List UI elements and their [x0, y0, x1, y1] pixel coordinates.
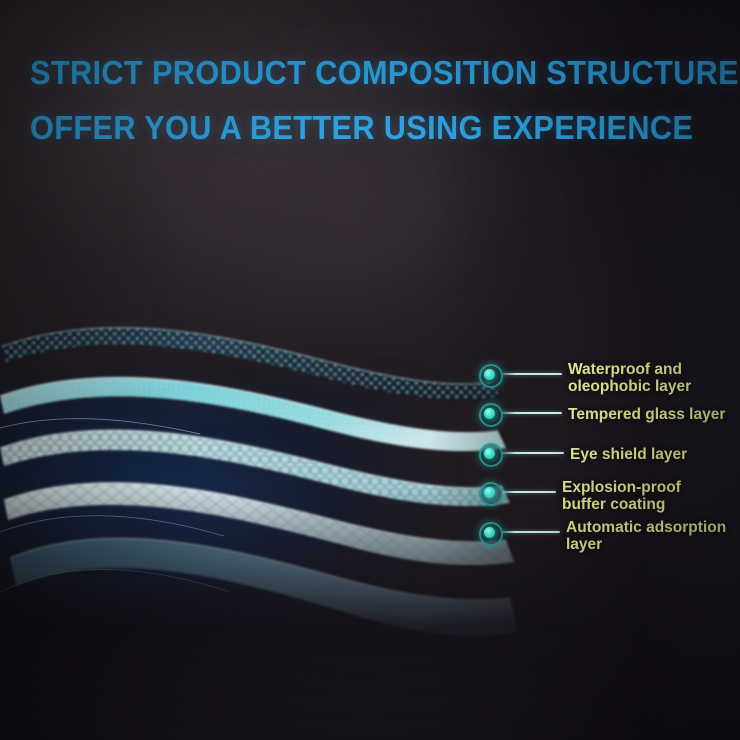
leader-line — [502, 452, 564, 454]
callout-label: Eye shield layer — [570, 447, 687, 464]
bullet-dot-icon — [478, 363, 502, 387]
callout-label: Waterproof and oleophobic layer — [568, 362, 691, 395]
callout-label: Explosion-proof buffer coating — [562, 480, 681, 513]
bullet-dot-icon — [478, 481, 502, 505]
bullet-dot-icon — [478, 521, 502, 545]
callout-item-1[interactable]: Waterproof and oleophobic layer — [478, 368, 691, 395]
leader-line — [502, 412, 562, 414]
leader-line — [502, 531, 560, 533]
headline-block: STRICT PRODUCT COMPOSITION STRUCTURE OFF… — [30, 56, 730, 144]
headline-line-1: STRICT PRODUCT COMPOSITION STRUCTURE — [30, 56, 681, 89]
callout-item-3[interactable]: Eye shield layer — [478, 447, 687, 466]
leader-line — [502, 373, 562, 375]
callout-item-2[interactable]: Tempered glass layer — [478, 407, 725, 426]
product-composition-infographic: STRICT PRODUCT COMPOSITION STRUCTURE OFF… — [0, 0, 740, 740]
bullet-dot-icon — [478, 442, 502, 466]
callout-label: Tempered glass layer — [568, 407, 725, 424]
callout-item-4[interactable]: Explosion-proof buffer coating — [478, 486, 681, 513]
headline-line-2: OFFER YOU A BETTER USING EXPERIENCE — [30, 111, 681, 144]
callout-label: Automatic adsorption layer — [566, 520, 726, 553]
callout-list: Waterproof and oleophobic layer Tempered… — [478, 352, 740, 562]
leader-line — [502, 491, 556, 493]
callout-item-5[interactable]: Automatic adsorption layer — [478, 526, 726, 553]
bullet-dot-icon — [478, 402, 502, 426]
